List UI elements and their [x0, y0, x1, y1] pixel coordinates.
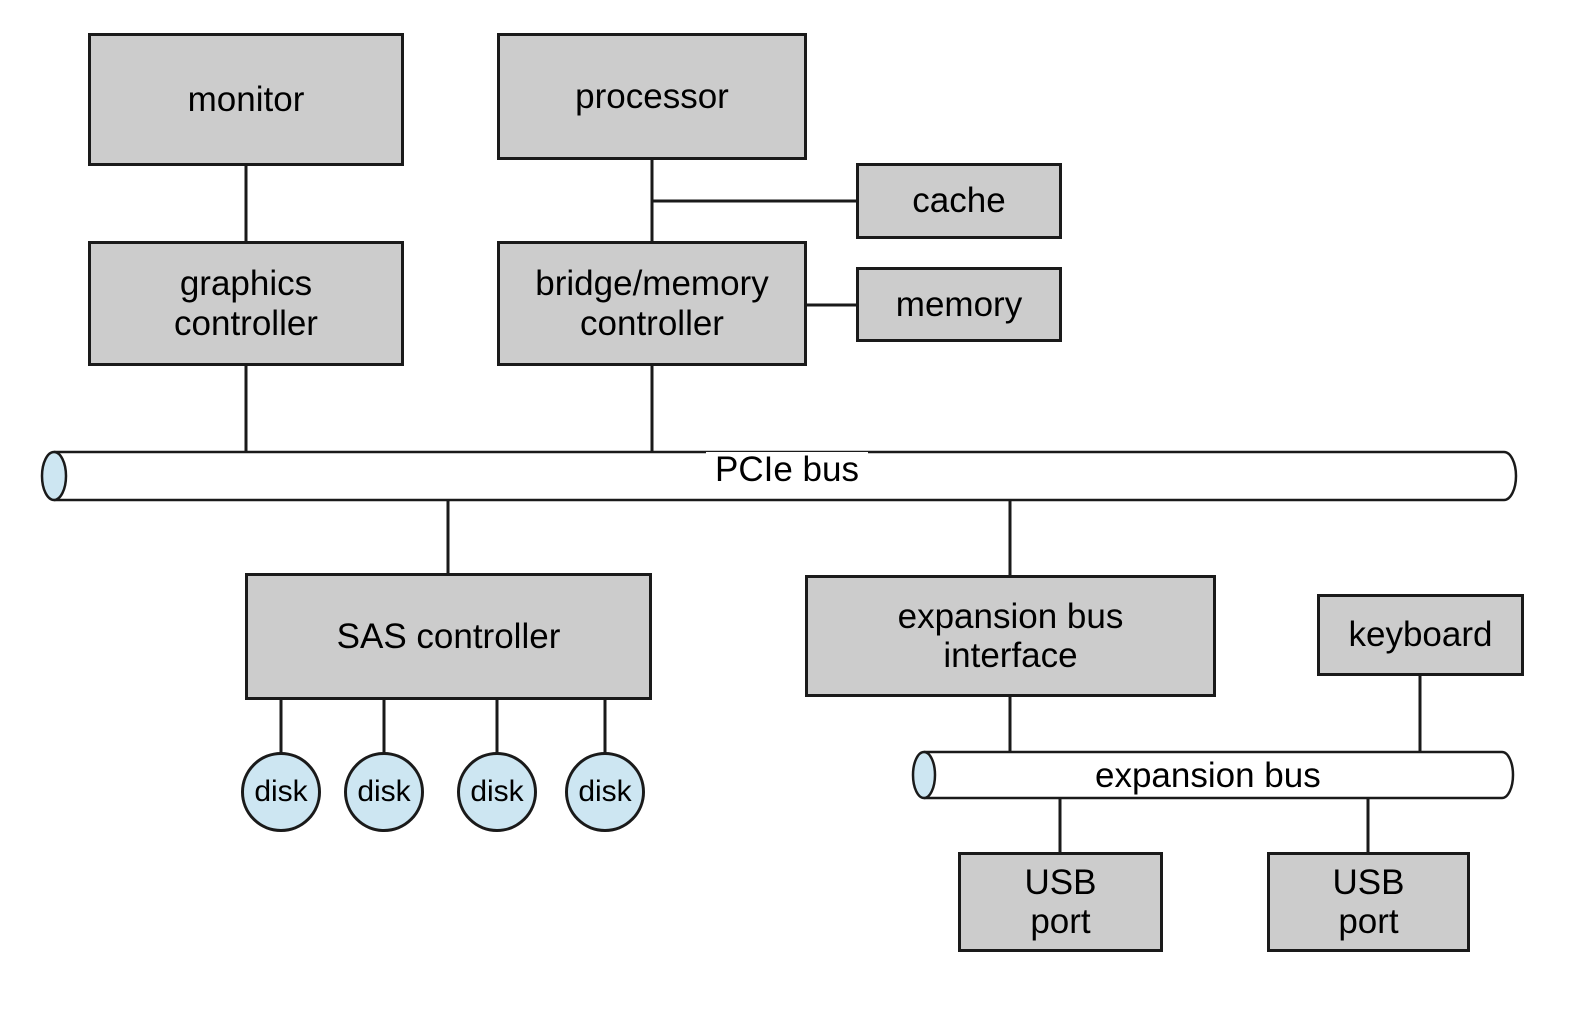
- node-cache-label: cache: [908, 181, 1009, 220]
- node-memory-label: memory: [892, 285, 1026, 324]
- node-keyboard-label: keyboard: [1345, 615, 1497, 654]
- node-usb-port-right[interactable]: USB port: [1267, 852, 1470, 952]
- node-processor[interactable]: processor: [497, 33, 807, 160]
- node-monitor-label: monitor: [184, 80, 309, 119]
- pcie-bus-end-cap: [42, 452, 66, 500]
- node-sas-controller-label: SAS controller: [333, 617, 565, 656]
- node-disk-4[interactable]: disk: [565, 752, 645, 832]
- diagram-canvas: PCIe bus expansion bus monitor processor…: [0, 0, 1596, 1010]
- node-bridge-memory-controller[interactable]: bridge/memory controller: [497, 241, 807, 366]
- node-usb-port-left-label: USB port: [1021, 863, 1101, 941]
- node-disk-2-label: disk: [357, 775, 410, 809]
- node-disk-1[interactable]: disk: [241, 752, 321, 832]
- node-expansion-bus-interface[interactable]: expansion bus interface: [805, 575, 1216, 697]
- node-disk-4-label: disk: [578, 775, 631, 809]
- node-expansion-bus-interface-label: expansion bus interface: [894, 597, 1128, 675]
- expansion-bus-label: expansion bus: [1086, 758, 1330, 793]
- node-monitor[interactable]: monitor: [88, 33, 404, 166]
- node-graphics-controller[interactable]: graphics controller: [88, 241, 404, 366]
- node-usb-port-right-label: USB port: [1329, 863, 1409, 941]
- node-disk-2[interactable]: disk: [344, 752, 424, 832]
- pcie-bus-label: PCIe bus: [706, 452, 868, 487]
- node-graphics-controller-label: graphics controller: [170, 264, 322, 342]
- node-bridge-memory-controller-label: bridge/memory controller: [531, 264, 772, 342]
- node-keyboard[interactable]: keyboard: [1317, 594, 1524, 676]
- node-usb-port-left[interactable]: USB port: [958, 852, 1163, 952]
- node-disk-1-label: disk: [254, 775, 307, 809]
- node-sas-controller[interactable]: SAS controller: [245, 573, 652, 700]
- node-memory[interactable]: memory: [856, 267, 1062, 342]
- node-disk-3-label: disk: [470, 775, 523, 809]
- node-processor-label: processor: [571, 77, 733, 116]
- expansion-bus-end-cap: [913, 752, 935, 798]
- node-disk-3[interactable]: disk: [457, 752, 537, 832]
- node-cache[interactable]: cache: [856, 163, 1062, 239]
